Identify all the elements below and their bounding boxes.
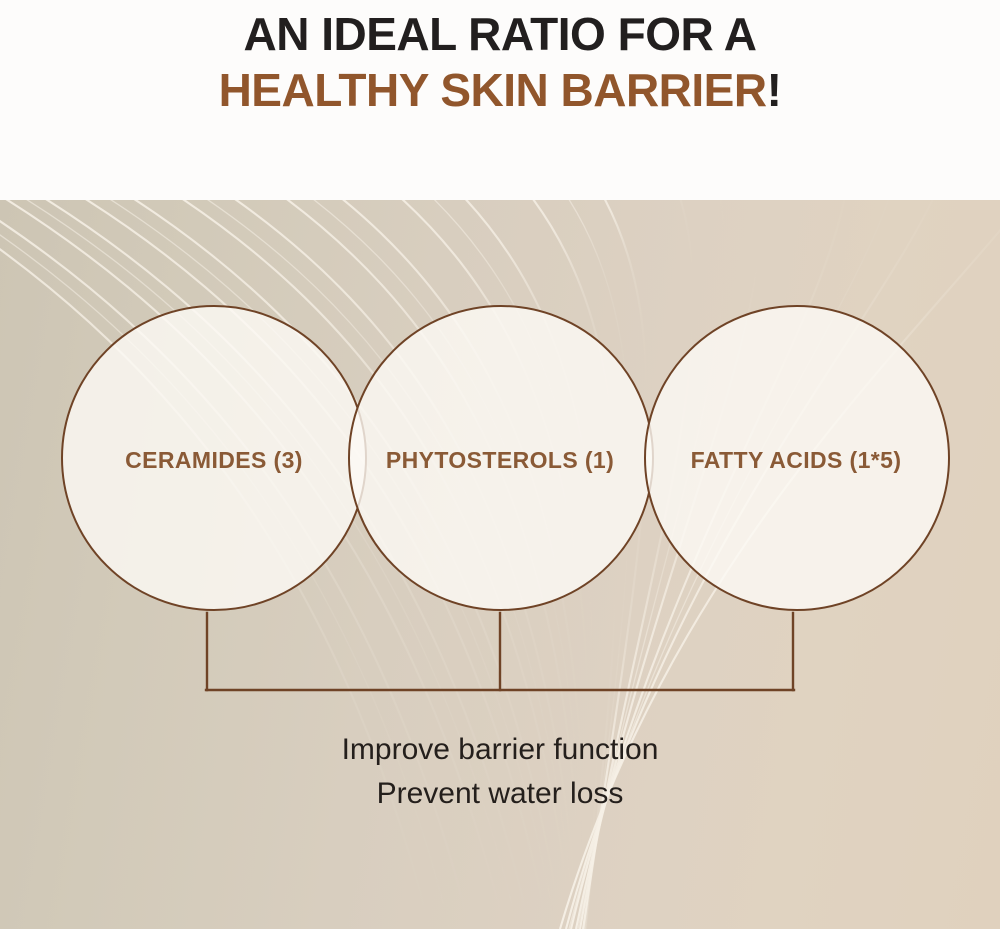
header-band: AN IDEAL RATIO FOR A HEALTHY SKIN BARRIE…: [0, 0, 1000, 200]
connector-bracket: [0, 200, 1000, 929]
benefit-line-2: Prevent water loss: [0, 772, 1000, 816]
headline-exclamation: !: [767, 64, 782, 116]
infographic-root: AN IDEAL RATIO FOR A HEALTHY SKIN BARRIE…: [0, 0, 1000, 929]
benefit-line-1: Improve barrier function: [0, 728, 1000, 772]
headline-line-1: AN IDEAL RATIO FOR A: [243, 6, 756, 62]
headline-line-2-text: HEALTHY SKIN BARRIER: [219, 64, 767, 116]
benefits-list: Improve barrier function Prevent water l…: [0, 728, 1000, 816]
headline-line-2: HEALTHY SKIN BARRIER!: [219, 62, 782, 118]
patterned-stage: CERAMIDES (3) PHYTOSTEROLS (1) FATTY ACI…: [0, 200, 1000, 929]
